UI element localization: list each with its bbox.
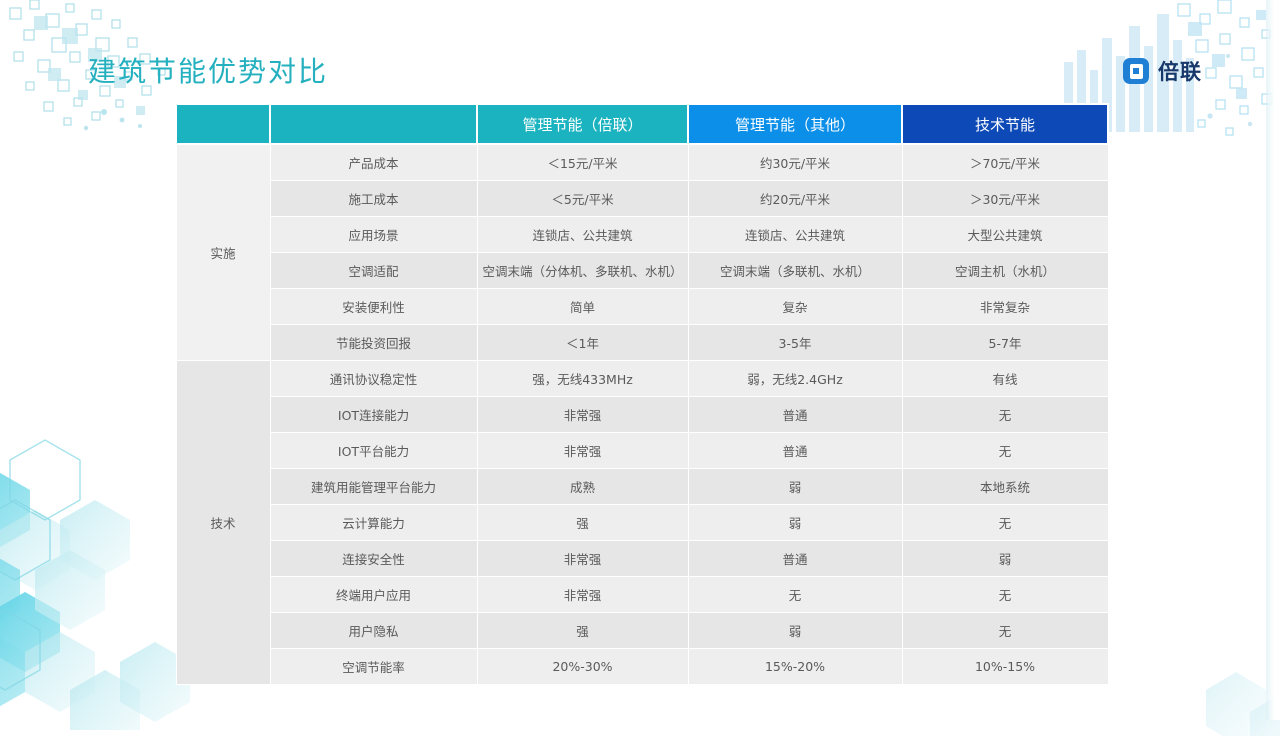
cell-value-c: 无 <box>902 613 1108 649</box>
cell-value-b: 约20元/平米 <box>688 181 902 217</box>
table-row: 云计算能力 强 弱 无 <box>176 505 1108 541</box>
metric-label: 产品成本 <box>270 144 477 181</box>
cell-value-a: 成熟 <box>477 469 688 505</box>
table-row: 空调节能率 20%-30% 15%-20% 10%-15% <box>176 649 1108 685</box>
table-row: 实施 产品成本 ＜15元/平米 约30元/平米 ＞70元/平米 <box>176 144 1108 181</box>
table-header-row: 管理节能（倍联） 管理节能（其他） 技术节能 <box>176 104 1108 144</box>
cell-value-c: 无 <box>902 433 1108 469</box>
rounded-square-logo-icon <box>1123 58 1149 84</box>
group-label-technology: 技术 <box>176 361 270 685</box>
cell-value-c: 本地系统 <box>902 469 1108 505</box>
metric-label: 应用场景 <box>270 217 477 253</box>
cell-value-b: 普通 <box>688 433 902 469</box>
cell-value-c: 非常复杂 <box>902 289 1108 325</box>
cell-value-a: 非常强 <box>477 397 688 433</box>
table-row: 建筑用能管理平台能力 成熟 弱 本地系统 <box>176 469 1108 505</box>
cell-value-c: 无 <box>902 505 1108 541</box>
table-row: 连接安全性 非常强 普通 弱 <box>176 541 1108 577</box>
brand-name: 倍联 <box>1158 56 1202 86</box>
metric-label: 空调适配 <box>270 253 477 289</box>
cell-value-a: 空调末端（分体机、多联机、水机） <box>477 253 688 289</box>
metric-label: 建筑用能管理平台能力 <box>270 469 477 505</box>
metric-label: 云计算能力 <box>270 505 477 541</box>
table-row: 节能投资回报 ＜1年 3-5年 5-7年 <box>176 325 1108 361</box>
metric-label: IOT平台能力 <box>270 433 477 469</box>
cell-value-c: 无 <box>902 397 1108 433</box>
cell-value-b: 约30元/平米 <box>688 144 902 181</box>
metric-label: 空调节能率 <box>270 649 477 685</box>
right-edge-gradient <box>1266 0 1280 720</box>
metric-label: 安装便利性 <box>270 289 477 325</box>
table-row: 施工成本 ＜5元/平米 约20元/平米 ＞30元/平米 <box>176 181 1108 217</box>
cell-value-c: ＞30元/平米 <box>902 181 1108 217</box>
cell-value-b: 弱 <box>688 469 902 505</box>
cell-value-a: 20%-30% <box>477 649 688 685</box>
cell-value-b: 3-5年 <box>688 325 902 361</box>
table-row: 空调适配 空调末端（分体机、多联机、水机） 空调末端（多联机、水机） 空调主机（… <box>176 253 1108 289</box>
cell-value-b: 连锁店、公共建筑 <box>688 217 902 253</box>
metric-label: 连接安全性 <box>270 541 477 577</box>
cell-value-b: 复杂 <box>688 289 902 325</box>
column-header-management-beilian: 管理节能（倍联） <box>477 104 688 144</box>
cell-value-b: 无 <box>688 577 902 613</box>
cell-value-a: ＜5元/平米 <box>477 181 688 217</box>
brand-logo: 倍联 <box>1123 56 1202 86</box>
cell-value-a: 强 <box>477 505 688 541</box>
table-section-implementation: 实施 产品成本 ＜15元/平米 约30元/平米 ＞70元/平米 施工成本 ＜5元… <box>176 144 1108 361</box>
column-header-metric <box>270 104 477 144</box>
table-row: 应用场景 连锁店、公共建筑 连锁店、公共建筑 大型公共建筑 <box>176 217 1108 253</box>
column-header-management-others: 管理节能（其他） <box>688 104 902 144</box>
table-row: 用户隐私 强 弱 无 <box>176 613 1108 649</box>
cell-value-b: 普通 <box>688 541 902 577</box>
table-row: 安装便利性 简单 复杂 非常复杂 <box>176 289 1108 325</box>
cell-value-a: ＜1年 <box>477 325 688 361</box>
metric-label: 施工成本 <box>270 181 477 217</box>
cell-value-c: 10%-15% <box>902 649 1108 685</box>
cell-value-a: 非常强 <box>477 433 688 469</box>
cell-value-c: 大型公共建筑 <box>902 217 1108 253</box>
cell-value-c: 5-7年 <box>902 325 1108 361</box>
comparison-table-container: 管理节能（倍联） 管理节能（其他） 技术节能 实施 产品成本 ＜15元/平米 约… <box>175 103 1107 685</box>
cell-value-a: 强 <box>477 613 688 649</box>
cell-value-c: 弱 <box>902 541 1108 577</box>
page-title: 建筑节能优势对比 <box>88 50 328 90</box>
cell-value-b: 弱 <box>688 505 902 541</box>
cell-value-b: 15%-20% <box>688 649 902 685</box>
metric-label: 通讯协议稳定性 <box>270 361 477 397</box>
cell-value-b: 普通 <box>688 397 902 433</box>
group-label-implementation: 实施 <box>176 144 270 361</box>
cell-value-a: ＜15元/平米 <box>477 144 688 181</box>
cell-value-c: ＞70元/平米 <box>902 144 1108 181</box>
cell-value-a: 非常强 <box>477 577 688 613</box>
cell-value-b: 弱，无线2.4GHz <box>688 361 902 397</box>
column-header-group <box>176 104 270 144</box>
table-header: 管理节能（倍联） 管理节能（其他） 技术节能 <box>176 104 1108 144</box>
table-row: 终端用户应用 非常强 无 无 <box>176 577 1108 613</box>
comparison-table: 管理节能（倍联） 管理节能（其他） 技术节能 实施 产品成本 ＜15元/平米 约… <box>175 103 1109 685</box>
column-header-technical-saving: 技术节能 <box>902 104 1108 144</box>
cell-value-b: 弱 <box>688 613 902 649</box>
hexagon-pattern-bottom-right <box>1110 616 1280 736</box>
table-section-technology: 技术 通讯协议稳定性 强，无线433MHz 弱，无线2.4GHz 有线 IOT连… <box>176 361 1108 685</box>
metric-label: IOT连接能力 <box>270 397 477 433</box>
cell-value-a: 非常强 <box>477 541 688 577</box>
table-row: 技术 通讯协议稳定性 强，无线433MHz 弱，无线2.4GHz 有线 <box>176 361 1108 397</box>
cell-value-a: 连锁店、公共建筑 <box>477 217 688 253</box>
metric-label: 用户隐私 <box>270 613 477 649</box>
cell-value-a: 强，无线433MHz <box>477 361 688 397</box>
metric-label: 节能投资回报 <box>270 325 477 361</box>
table-row: IOT平台能力 非常强 普通 无 <box>176 433 1108 469</box>
cell-value-a: 简单 <box>477 289 688 325</box>
metric-label: 终端用户应用 <box>270 577 477 613</box>
cell-value-c: 空调主机（水机） <box>902 253 1108 289</box>
cell-value-b: 空调末端（多联机、水机） <box>688 253 902 289</box>
cell-value-c: 有线 <box>902 361 1108 397</box>
cell-value-c: 无 <box>902 577 1108 613</box>
table-row: IOT连接能力 非常强 普通 无 <box>176 397 1108 433</box>
